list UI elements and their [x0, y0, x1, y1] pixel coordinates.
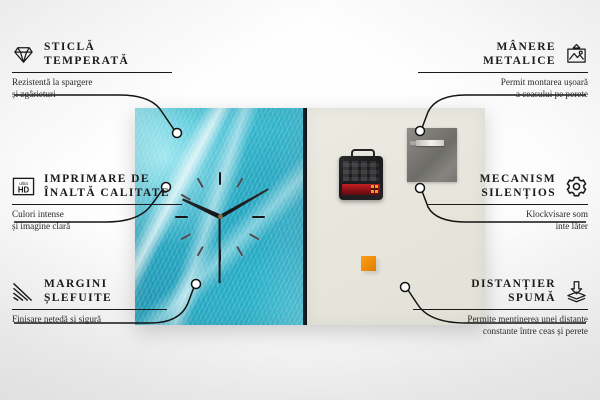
callout-rule	[12, 204, 182, 205]
callout-title: STICLĂTEMPERATĂ	[44, 40, 129, 68]
callout-rule	[428, 204, 588, 205]
callout-subtitle: Permite menținerea unei distanțeconstant…	[413, 314, 588, 337]
callout-title: MARGINIȘLEFUITE	[44, 277, 112, 305]
gear-icon	[565, 175, 588, 198]
callout-header: STICLĂTEMPERATĂ	[12, 40, 172, 68]
callout-distantier-spuma: DISTANȚIERSPUMĂ Permite menținerea unei …	[413, 277, 588, 337]
callout-rule	[12, 309, 167, 310]
battery-plus-terminal	[371, 185, 378, 193]
callout-header: MECANISMSILENȚIOS	[428, 172, 588, 200]
mechanism-hook	[351, 149, 375, 160]
callout-subtitle: Permit montarea ușoarăa ceasului pe pere…	[418, 77, 588, 100]
battery	[342, 184, 380, 195]
polished-edges-icon	[12, 280, 35, 303]
hour-hand	[181, 196, 221, 218]
callout-rule	[12, 72, 172, 73]
callout-header: ultra HD IMPRIMARE DEÎNALTĂ CALITATE	[12, 172, 182, 200]
callout-subtitle: Culori intenseși imagine clară	[12, 209, 182, 232]
callout-header: MARGINIȘLEFUITE	[12, 277, 167, 305]
clock-center-cap	[218, 214, 223, 219]
callout-sticla-temperata: STICLĂTEMPERATĂ Rezistentă la spargereși…	[12, 40, 172, 100]
callout-imprimare-hd: ultra HD IMPRIMARE DEÎNALTĂ CALITATE Cul…	[12, 172, 182, 232]
callout-mecanism-silentios: MECANISMSILENȚIOS Klockvisare sominte lå…	[428, 172, 588, 232]
callout-manere-metalice: MÂNEREMETALICE Permit montarea ușoarăa c…	[418, 40, 588, 100]
quartz-mechanism-box	[339, 156, 383, 200]
callout-subtitle: Rezistentă la spargereși zgârieturi	[12, 77, 172, 100]
callout-header: MÂNEREMETALICE	[418, 40, 588, 68]
callout-title: IMPRIMARE DEÎNALTĂ CALITATE	[44, 172, 170, 200]
hanging-picture-frame-icon	[565, 43, 588, 66]
svg-text:HD: HD	[18, 185, 30, 194]
minute-hand	[219, 187, 269, 218]
foam-spacer	[361, 256, 376, 271]
foam-spacer-arrow-icon	[565, 280, 588, 303]
mechanism-vents	[343, 161, 379, 181]
callout-title: DISTANȚIERSPUMĂ	[471, 277, 556, 305]
callout-margini-slefuite: MARGINIȘLEFUITE Finisare netedă și sigur…	[12, 277, 167, 326]
second-hand	[219, 217, 221, 283]
callout-subtitle: Finisare netedă și sigură	[12, 314, 167, 326]
callout-rule	[418, 72, 588, 73]
infographic-canvas: STICLĂTEMPERATĂ Rezistentă la spargereși…	[0, 0, 600, 400]
callout-header: DISTANȚIERSPUMĂ	[413, 277, 588, 305]
callout-title: MÂNEREMETALICE	[483, 40, 556, 68]
diamond-icon	[12, 43, 35, 66]
hanger-slot	[416, 140, 444, 146]
callout-subtitle: Klockvisare sominte låter	[428, 209, 588, 232]
callout-title: MECANISMSILENȚIOS	[480, 172, 556, 200]
ultra-hd-icon: ultra HD	[12, 175, 35, 198]
callout-rule	[413, 309, 588, 310]
